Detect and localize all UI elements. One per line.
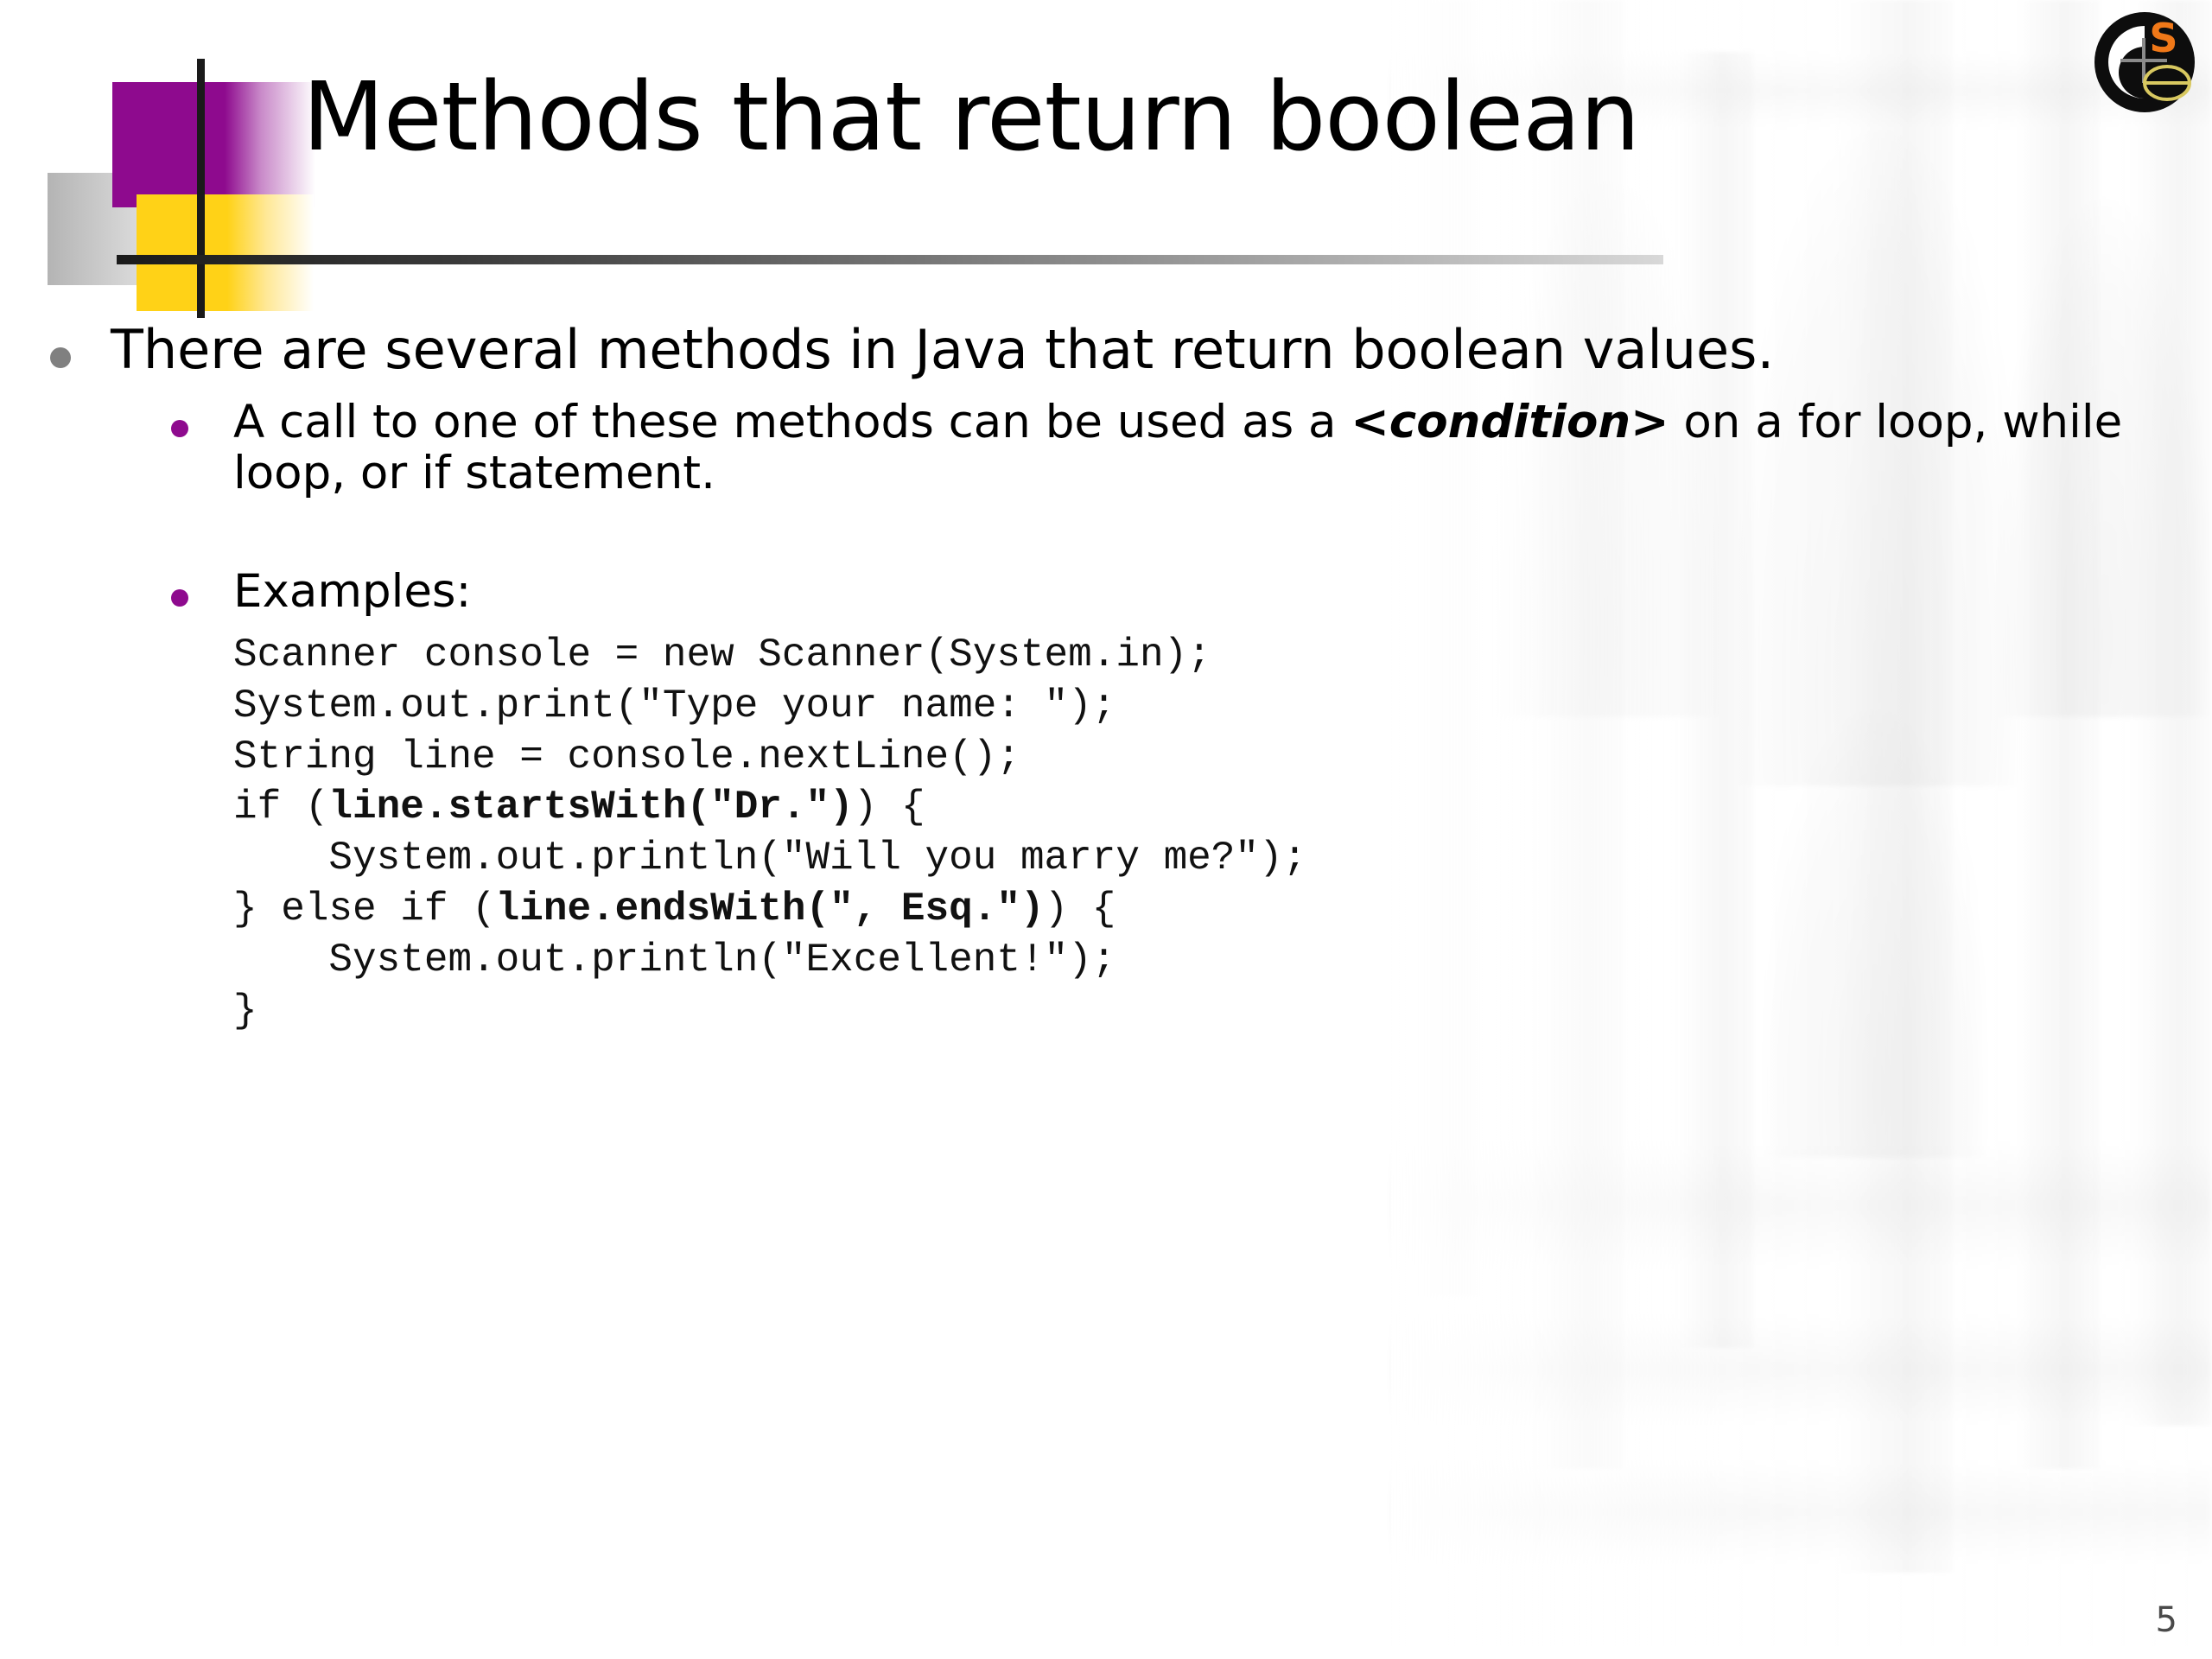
- decor-yellow-gradient: [227, 194, 314, 311]
- code-line: } else if (line.endsWith(", Esq.")) {: [233, 884, 2169, 935]
- svg-text:S: S: [2149, 15, 2177, 61]
- bullet-level2-examples: Examples:: [26, 567, 2169, 618]
- bullet-level1-text: There are several methods in Java that r…: [111, 321, 2169, 378]
- code-span-plain: ) {: [1045, 887, 1116, 931]
- code-span-plain: ) {: [854, 785, 925, 829]
- code-span-plain: }: [233, 988, 257, 1033]
- code-line: Scanner console = new Scanner(System.in)…: [233, 630, 2169, 681]
- code-span-plain: System.out.print("Type your name: ");: [233, 683, 1116, 728]
- body-spacer: [26, 499, 2169, 567]
- bullet-level2-b-text: Examples:: [233, 567, 2169, 618]
- code-line: if (line.startsWith("Dr.")) {: [233, 782, 2169, 833]
- code-span-bold: line.endsWith(", Esq."): [496, 887, 1045, 931]
- code-span-plain: System.out.println("Excellent!");: [233, 938, 1116, 982]
- condition-emphasis: <condition>: [1351, 396, 1669, 448]
- condition-text-before: A call to one of these methods can be us…: [233, 396, 1351, 448]
- code-span-bold: line.startsWith("Dr."): [328, 785, 853, 829]
- code-span-plain: System.out.println("Will you marry me?")…: [233, 836, 1306, 880]
- code-line: System.out.print("Type your name: ");: [233, 681, 2169, 732]
- bullet-level1: There are several methods in Java that r…: [26, 321, 2169, 378]
- code-line: System.out.println("Will you marry me?")…: [233, 833, 2169, 884]
- code-line: String line = console.nextLine();: [233, 732, 2169, 783]
- bullet-level2-a-text: A call to one of these methods can be us…: [233, 397, 2169, 499]
- cse-logo: S: [2089, 7, 2200, 118]
- bullet-marker-level2-a: [171, 420, 188, 437]
- code-span-plain: Scanner console = new Scanner(System.in)…: [233, 632, 1211, 677]
- code-span-plain: String line = console.nextLine();: [233, 734, 1020, 779]
- page-title: Methods that return boolean: [302, 67, 1639, 168]
- slide-canvas: Methods that return boolean S There are …: [0, 0, 2212, 1659]
- code-line: }: [233, 986, 2169, 1037]
- bullet-marker-level1: [50, 347, 71, 368]
- decor-vertical-rule: [197, 59, 205, 318]
- page-number: 5: [2156, 1600, 2177, 1640]
- title-underline-rule: [117, 255, 1663, 264]
- decor-yellow-block: [137, 194, 227, 311]
- code-sample: Scanner console = new Scanner(System.in)…: [26, 630, 2169, 1037]
- code-span-plain: } else if (: [233, 887, 496, 931]
- code-line: System.out.println("Excellent!");: [233, 935, 2169, 986]
- decor-purple-block: [112, 82, 225, 207]
- slide-body: There are several methods in Java that r…: [26, 321, 2169, 1037]
- code-span-plain: if (: [233, 785, 328, 829]
- bullet-marker-level2-b: [171, 589, 188, 607]
- bullet-level2-condition: A call to one of these methods can be us…: [26, 397, 2169, 499]
